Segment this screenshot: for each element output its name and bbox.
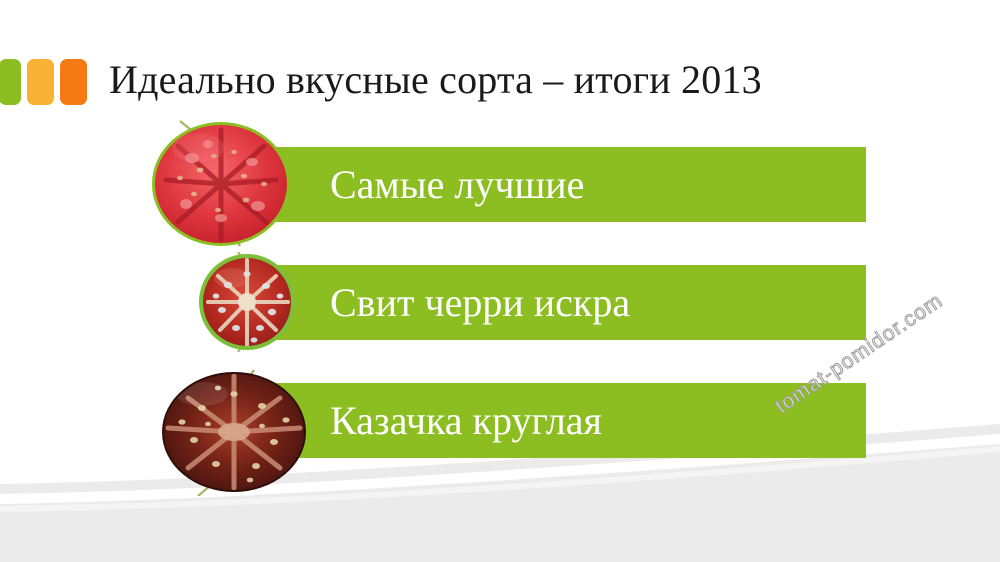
green-square-icon: [0, 59, 21, 105]
yellow-square-icon: [27, 59, 54, 105]
stem-bottom: [198, 474, 224, 496]
list-item-bar-2[interactable]: Свит черри искра: [230, 265, 866, 340]
decorative-squares: [3, 59, 87, 105]
page-title: Идеально вкусные сорта – итоги 2013: [109, 54, 762, 106]
stem-bottom: [226, 222, 240, 246]
orange-square-icon: [60, 59, 87, 105]
list-item-bar-3[interactable]: Казачка круглая: [230, 383, 866, 458]
slide-canvas: Идеально вкусные сорта – итоги 2013 Самы…: [0, 0, 1000, 562]
list-item-label: Казачка круглая: [330, 399, 602, 443]
list-item-label: Самые лучшие: [330, 163, 584, 207]
stem-bottom: [238, 340, 246, 352]
stem-top: [180, 121, 211, 146]
list-item-bar-1[interactable]: Самые лучшие: [230, 147, 866, 222]
list-item-label: Свит черри искра: [330, 281, 630, 325]
stem-top: [238, 252, 248, 266]
